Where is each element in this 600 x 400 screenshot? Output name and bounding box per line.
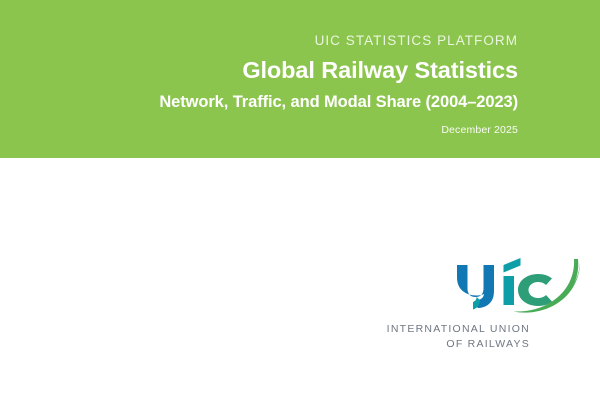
- page-title: Global Railway Statistics: [58, 55, 518, 86]
- cover-page: UIC STATISTICS PLATFORM Global Railway S…: [0, 0, 600, 400]
- page-subtitle: Network, Traffic, and Modal Share (2004–…: [58, 92, 518, 113]
- logo-letter-i: [504, 258, 521, 305]
- uic-wordmark-icon: [454, 256, 580, 318]
- logo-caption-line-2: OF RAILWAYS: [368, 337, 530, 352]
- uic-logo: INTERNATIONAL UNION OF RAILWAYS: [368, 256, 580, 360]
- logo-letter-u: [457, 265, 494, 310]
- logo-caption-line-1: INTERNATIONAL UNION: [368, 322, 530, 337]
- publication-date: December 2025: [58, 124, 518, 138]
- uic-logo-caption: INTERNATIONAL UNION OF RAILWAYS: [368, 322, 530, 352]
- header-text-block: UIC STATISTICS PLATFORM Global Railway S…: [58, 32, 518, 138]
- header-eyebrow: UIC STATISTICS PLATFORM: [58, 32, 518, 50]
- logo-letter-c: [518, 274, 552, 306]
- header-band: UIC STATISTICS PLATFORM Global Railway S…: [0, 0, 600, 158]
